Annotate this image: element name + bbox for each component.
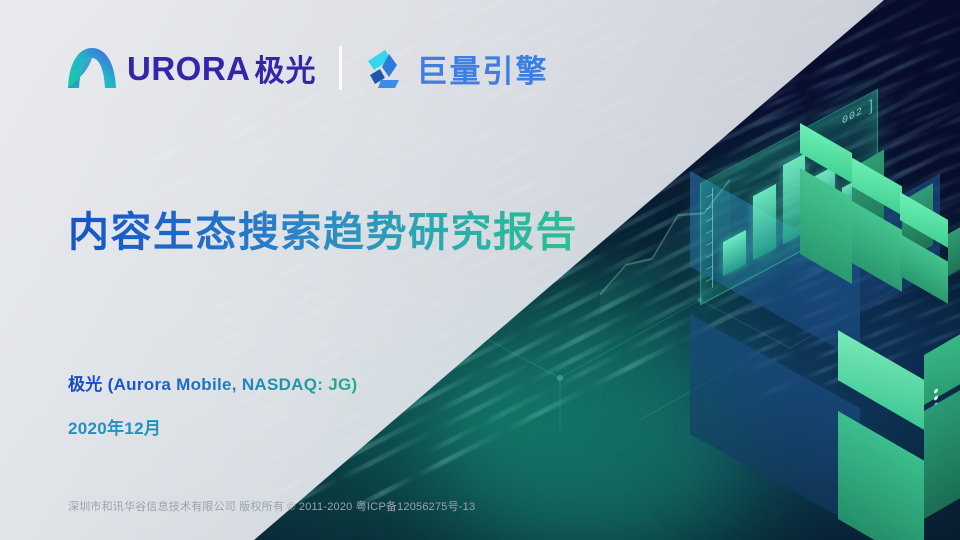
report-cover-slide: [ 002 ] <box>0 0 960 540</box>
brand-divider <box>339 46 342 90</box>
page-title: 内容生态搜索趋势研究报告 <box>68 198 578 258</box>
ocean-engine-triple-arrow-icon <box>362 46 408 90</box>
brand-bar: URORA 极光 巨量引擎 <box>66 40 549 96</box>
footer-copyright: 深圳市和讯华谷信息技术有限公司 版权所有 © 2011-2020 粤ICP备12… <box>68 498 475 514</box>
ocean-engine-wordmark: 巨量引擎 <box>417 46 549 91</box>
aurora-wordmark: URORA <box>127 52 251 85</box>
date-line: 2020年12月 <box>68 414 161 439</box>
slide-content: URORA 极光 巨量引擎 内容生态搜索趋势研究报告 极光 (Aurora Mo… <box>0 0 960 540</box>
aurora-wordmark-cn: 极光 <box>255 46 317 90</box>
aurora-arch-logo-icon <box>66 45 118 91</box>
company-line: 极光 (Aurora Mobile, NASDAQ: JG) <box>68 370 358 395</box>
